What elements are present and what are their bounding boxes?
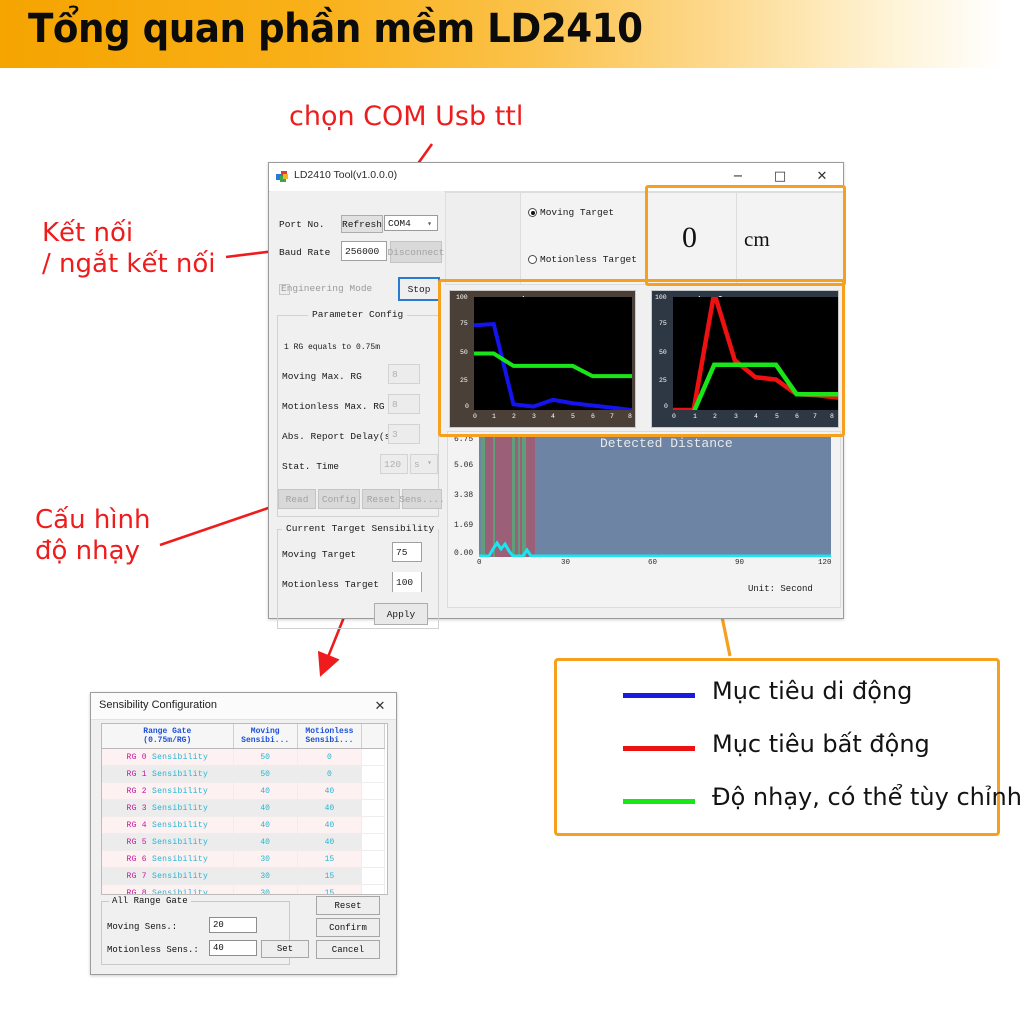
highlight-distance-box — [645, 185, 846, 286]
cell-motionless-sensibility[interactable]: 40 — [297, 783, 361, 800]
col-header-line1: Range Gate — [102, 727, 233, 736]
range-gate-suffix: Sensibility — [147, 770, 208, 779]
cell-moving-sensibility[interactable]: 50 — [233, 766, 297, 783]
all-range-gate-title: All Range Gate — [109, 896, 191, 906]
motionless-max-rg-label: Motionless Max. RG — [282, 401, 385, 412]
abs-report-delay-input[interactable]: 3 — [388, 424, 420, 444]
legend-swatch-motionless — [623, 746, 695, 751]
range-gate-prefix: RG 0 — [126, 753, 146, 762]
page-title: Tổng quan phần mềm LD2410 — [28, 6, 642, 52]
sensibility-table: Range Gate (0.75m/RG) Moving Sensibi... … — [102, 724, 385, 895]
moving-target-radio-label: Moving Target — [540, 207, 614, 218]
range-gate-suffix: Sensibility — [147, 872, 208, 881]
table-row[interactable]: RG 4 Sensibility4040 — [102, 817, 385, 834]
annotation-sensibility: Cấu hình độ nhạy — [35, 505, 151, 567]
y-tick: 5.06 — [454, 461, 473, 470]
all-motionless-sens-label: Motionless Sens.: — [107, 945, 199, 955]
table-row[interactable]: RG 8 Sensibility3015 — [102, 885, 385, 896]
cell-motionless-sensibility[interactable]: 15 — [297, 851, 361, 868]
cell-motionless-sensibility[interactable]: 15 — [297, 885, 361, 896]
legend-item: Mục tiêu di động — [557, 669, 997, 721]
highlight-charts-box — [438, 279, 845, 437]
motionless-target-radio-label: Motionless Target — [540, 254, 637, 265]
table-row[interactable]: RG 3 Sensibility4040 — [102, 800, 385, 817]
col-header-line1: Motionless — [298, 727, 361, 736]
port-select[interactable]: COM4 ▾ — [384, 215, 438, 231]
stat-time-unit-select[interactable]: s ▾ — [410, 454, 438, 474]
col-header-line2: (0.75m/RG) — [102, 736, 233, 745]
cell-moving-sensibility[interactable]: 30 — [233, 885, 297, 896]
port-select-value: COM4 — [388, 218, 411, 229]
status-blank-panel — [445, 192, 521, 285]
all-moving-sens-label: Moving Sens.: — [107, 922, 177, 932]
stop-button[interactable]: Stop — [398, 277, 440, 301]
cell-moving-sensibility[interactable]: 40 — [233, 834, 297, 851]
cell-spacer — [362, 800, 385, 817]
range-gate-suffix: Sensibility — [147, 889, 208, 896]
cell-moving-sensibility[interactable]: 50 — [233, 749, 297, 766]
col-header-moving: Moving Sensibi... — [233, 724, 297, 749]
sensibility-configuration-dialog: Sensibility Configuration ✕ Range Gate (… — [90, 692, 397, 975]
cell-range-gate: RG 8 Sensibility — [102, 885, 233, 896]
stat-time-unit-value: s — [414, 459, 420, 470]
stat-time-input[interactable]: 120 — [380, 454, 408, 474]
current-moving-target-label: Moving Target — [282, 549, 356, 560]
set-button[interactable]: Set — [261, 940, 309, 958]
cell-range-gate: RG 5 Sensibility — [102, 834, 233, 851]
confirm-button[interactable]: Confirm — [316, 918, 380, 937]
x-tick: 0 — [477, 559, 482, 567]
range-gate-prefix: RG 1 — [126, 770, 146, 779]
sensibility-table-body: RG 0 Sensibility500RG 1 Sensibility500RG… — [102, 749, 385, 896]
table-row[interactable]: RG 5 Sensibility4040 — [102, 834, 385, 851]
cell-motionless-sensibility[interactable]: 40 — [297, 800, 361, 817]
config-left-panel: Port No. Refresh COM4 ▾ Baud Rate 256000… — [270, 191, 444, 616]
current-target-sensibility-title: Current Target Sensibility — [282, 523, 438, 534]
detected-distance-plot — [479, 437, 831, 557]
legend-label-sensitivity: Độ nhạy, có thể tùy chỉnh — [712, 783, 1022, 811]
detected-distance-title: Detected Distance — [600, 436, 733, 451]
baud-rate-input[interactable]: 256000 — [341, 241, 387, 261]
x-tick: 60 — [648, 559, 657, 567]
range-gate-suffix: Sensibility — [147, 838, 208, 847]
cell-moving-sensibility[interactable]: 40 — [233, 800, 297, 817]
legend-box: Mục tiêu di động Mục tiêu bất động Độ nh… — [554, 658, 1000, 836]
cell-motionless-sensibility[interactable]: 40 — [297, 834, 361, 851]
range-gate-suffix: Sensibility — [147, 787, 208, 796]
engineering-mode-label: Engineering Mode — [281, 283, 372, 294]
header-banner: Tổng quan phần mềm LD2410 — [0, 0, 1024, 68]
current-moving-target-input[interactable]: 75 — [392, 542, 422, 562]
table-row[interactable]: RG 6 Sensibility3015 — [102, 851, 385, 868]
motionless-target-radio[interactable] — [528, 255, 537, 264]
moving-max-rg-label: Moving Max. RG — [282, 371, 362, 382]
motionless-max-rg-input[interactable]: 8 — [388, 394, 420, 414]
moving-target-radio[interactable] — [528, 208, 537, 217]
stat-time-label: Stat. Time — [282, 461, 339, 472]
cell-motionless-sensibility[interactable]: 0 — [297, 749, 361, 766]
chevron-down-icon: ▾ — [427, 458, 432, 468]
cell-spacer — [362, 817, 385, 834]
baud-rate-label: Baud Rate — [279, 247, 330, 258]
abs-report-delay-label: Abs. Report Delay(s) — [282, 431, 396, 442]
range-gate-prefix: RG 7 — [126, 872, 146, 881]
target-type-panel: Moving Target Motionless Target — [520, 192, 646, 285]
legend-label-moving: Mục tiêu di động — [712, 677, 912, 705]
annotation-connect: Kết nối / ngắt kết nối — [42, 218, 216, 280]
sens-dialog-title: Sensibility Configuration — [99, 699, 217, 711]
cell-spacer — [362, 851, 385, 868]
cell-range-gate: RG 7 Sensibility — [102, 868, 233, 885]
range-gate-suffix: Sensibility — [147, 804, 208, 813]
detected-distance-chart: 6.75 5.06 3.38 1.69 0.00 Detected Distan… — [447, 431, 841, 608]
cell-spacer — [362, 749, 385, 766]
cell-range-gate: RG 6 Sensibility — [102, 851, 233, 868]
y-tick: 3.38 — [454, 491, 473, 500]
range-gate-prefix: RG 6 — [126, 855, 146, 864]
all-moving-sens-input[interactable]: 20 — [209, 917, 257, 933]
table-row[interactable]: RG 7 Sensibility3015 — [102, 868, 385, 885]
legend-item: Độ nhạy, có thể tùy chỉnh — [557, 775, 997, 827]
parameter-config-title: Parameter Config — [308, 309, 407, 320]
legend-swatch-moving — [623, 693, 695, 698]
col-header-motionless: Motionless Sensibi... — [297, 724, 361, 749]
y-tick: 1.69 — [454, 521, 473, 530]
table-row[interactable]: RG 0 Sensibility500 — [102, 749, 385, 766]
legend-item: Mục tiêu bất động — [557, 722, 997, 774]
close-icon[interactable]: ✕ — [368, 695, 392, 717]
x-tick: 30 — [561, 559, 570, 567]
current-motionless-target-input[interactable]: 100 — [392, 572, 422, 592]
all-motionless-sens-input[interactable]: 40 — [209, 940, 257, 956]
app-logo-icon — [276, 170, 289, 183]
y-tick: 0.00 — [454, 549, 473, 558]
current-motionless-target-label: Motionless Target — [282, 579, 379, 590]
col-header-line2: Sensibi... — [298, 736, 361, 745]
cell-spacer — [362, 783, 385, 800]
legend-label-motionless: Mục tiêu bất động — [712, 730, 930, 758]
cell-range-gate: RG 3 Sensibility — [102, 800, 233, 817]
cell-range-gate: RG 0 Sensibility — [102, 749, 233, 766]
col-header-range-gate: Range Gate (0.75m/RG) — [102, 724, 233, 749]
cell-motionless-sensibility[interactable]: 15 — [297, 868, 361, 885]
col-header-spacer — [362, 724, 385, 749]
cell-moving-sensibility[interactable]: 30 — [233, 868, 297, 885]
table-row[interactable]: RG 2 Sensibility4040 — [102, 783, 385, 800]
range-gate-suffix: Sensibility — [147, 855, 208, 864]
apply-button[interactable]: Apply — [374, 603, 428, 625]
range-gate-suffix: Sensibility — [147, 753, 208, 762]
reset-button[interactable]: Reset — [316, 896, 380, 915]
legend-swatch-sensitivity — [623, 799, 695, 804]
range-gate-prefix: RG 3 — [126, 804, 146, 813]
config-button[interactable]: Config — [318, 489, 360, 509]
moving-max-rg-input[interactable]: 8 — [388, 364, 420, 384]
x-tick: 90 — [735, 559, 744, 567]
cell-moving-sensibility[interactable]: 30 — [233, 851, 297, 868]
annotation-com-port: chọn COM Usb ttl — [289, 101, 523, 132]
rg-note: 1 RG equals to 0.75m — [284, 343, 380, 352]
range-gate-suffix: Sensibility — [147, 821, 208, 830]
sensibility-table-wrapper[interactable]: Range Gate (0.75m/RG) Moving Sensibi... … — [101, 723, 388, 895]
detected-distance-unit-label: Unit: Second — [748, 584, 813, 594]
cell-range-gate: RG 2 Sensibility — [102, 783, 233, 800]
chevron-down-icon: ▾ — [427, 219, 432, 229]
cancel-button[interactable]: Cancel — [316, 940, 380, 959]
port-no-label: Port No. — [279, 219, 325, 230]
app-title-text: LD2410 Tool(v1.0.0.0) — [294, 169, 397, 181]
cell-motionless-sensibility[interactable]: 0 — [297, 766, 361, 783]
cell-range-gate: RG 4 Sensibility — [102, 817, 233, 834]
cell-spacer — [362, 834, 385, 851]
cell-motionless-sensibility[interactable]: 40 — [297, 817, 361, 834]
range-gate-prefix: RG 5 — [126, 838, 146, 847]
cell-range-gate: RG 1 Sensibility — [102, 766, 233, 783]
range-gate-prefix: RG 4 — [126, 821, 146, 830]
col-header-line2: Sensibi... — [234, 736, 297, 745]
cell-moving-sensibility[interactable]: 40 — [233, 817, 297, 834]
range-gate-prefix: RG 8 — [126, 889, 146, 896]
cell-moving-sensibility[interactable]: 40 — [233, 783, 297, 800]
col-header-line1: Moving — [234, 727, 297, 736]
cell-spacer — [362, 885, 385, 896]
disconnect-button[interactable]: Disconnect — [390, 241, 442, 263]
x-tick: 120 — [818, 559, 832, 567]
reset-button[interactable]: Reset — [362, 489, 400, 509]
table-header-row: Range Gate (0.75m/RG) Moving Sensibi... … — [102, 724, 385, 749]
table-row[interactable]: RG 1 Sensibility500 — [102, 766, 385, 783]
cell-spacer — [362, 766, 385, 783]
cell-spacer — [362, 868, 385, 885]
refresh-button[interactable]: Refresh — [341, 215, 383, 233]
sens-dialog-titlebar[interactable]: Sensibility Configuration ✕ — [91, 693, 396, 720]
read-button[interactable]: Read — [278, 489, 316, 509]
range-gate-prefix: RG 2 — [126, 787, 146, 796]
sensibility-button[interactable]: Sens.... — [402, 489, 442, 509]
